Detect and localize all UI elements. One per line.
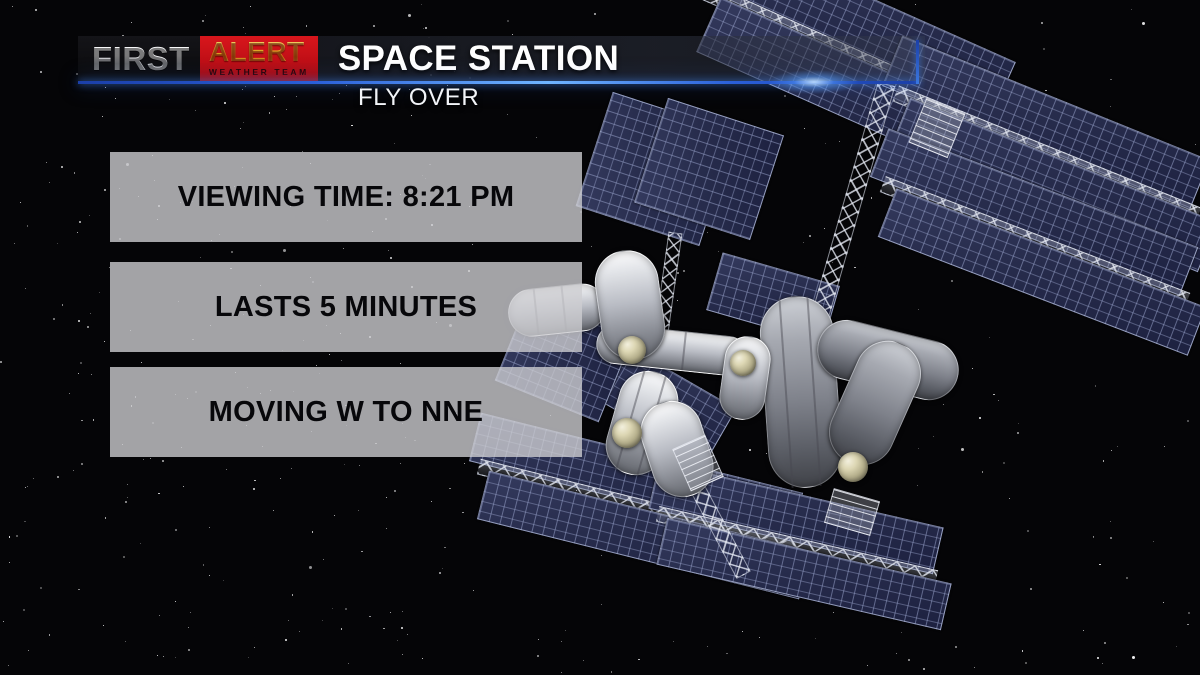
logo-first-block: FIRST — [78, 36, 200, 82]
info-panel-text: MOVING W TO NNE — [209, 396, 484, 429]
info-panel-text: LASTS 5 MINUTES — [215, 291, 477, 324]
header-accent-rule-vertical — [916, 40, 919, 84]
info-panel-direction: MOVING W TO NNE — [110, 367, 582, 457]
logo-weather-team-text: WEATHER TEAM — [209, 67, 309, 78]
page-subtitle: FLY OVER — [358, 84, 479, 112]
header-title-wrap: SPACE STATION — [318, 36, 619, 82]
logo-alert-block: ALERT WEATHER TEAM — [200, 36, 318, 82]
first-alert-weather-team-logo: FIRST ALERT WEATHER TEAM — [78, 36, 318, 82]
info-panel-viewing-time: VIEWING TIME: 8:21 PM — [110, 152, 582, 242]
info-panel-text: VIEWING TIME: 8:21 PM — [178, 181, 515, 214]
info-panel-duration: LASTS 5 MINUTES — [110, 262, 582, 352]
broadcast-graphic: FIRST ALERT WEATHER TEAM SPACE STATION F… — [0, 0, 1200, 675]
logo-first-text: FIRST — [92, 40, 190, 78]
logo-alert-text: ALERT — [209, 39, 309, 66]
page-title: SPACE STATION — [338, 39, 619, 79]
lens-flare-glow — [770, 70, 858, 94]
